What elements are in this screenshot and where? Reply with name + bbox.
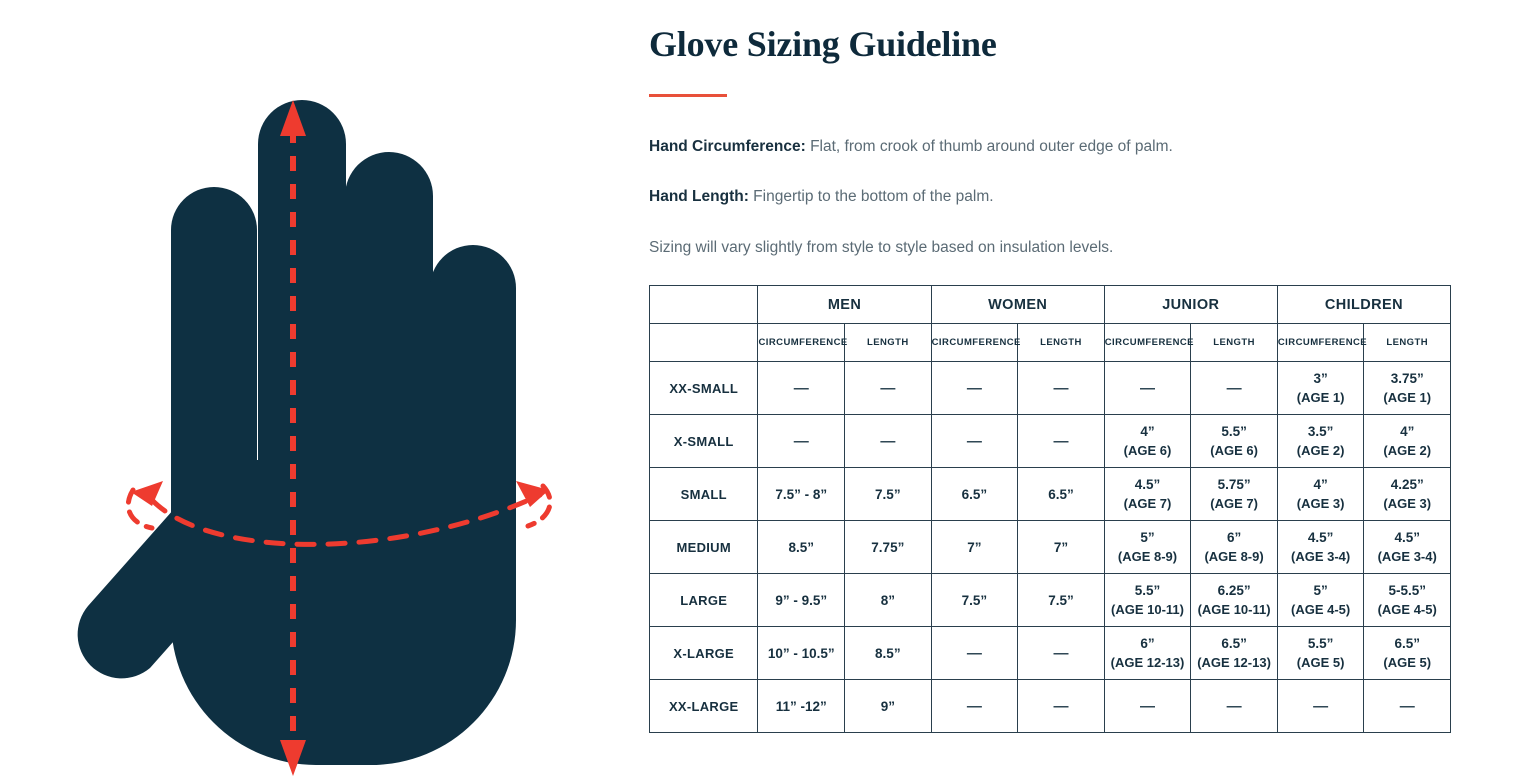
table-cell: 6”(AGE 12-13) — [1104, 627, 1191, 680]
table-cell: 7” — [931, 521, 1018, 574]
table-cell: 6.5” — [1018, 468, 1105, 521]
cell-age: (AGE 3-4) — [1364, 547, 1450, 566]
page-title: Glove Sizing Guideline — [649, 22, 997, 66]
cell-value: — — [1400, 698, 1415, 715]
cell-value: — — [1053, 433, 1068, 450]
row-label-x-large: X-LARGE — [650, 627, 758, 680]
group-header-women: WOMEN — [931, 286, 1104, 324]
group-header-children: CHILDREN — [1277, 286, 1450, 324]
table-cell: 4.5”(AGE 7) — [1104, 468, 1191, 521]
cell-value: 10” - 10.5” — [768, 646, 835, 661]
table-cell: 4”(AGE 6) — [1104, 415, 1191, 468]
cell-value: 7.5” — [1048, 593, 1074, 608]
sub-header-row: CIRCUMFERENCE LENGTH CIRCUMFERENCE LENGT… — [650, 324, 1451, 362]
cell-value: — — [880, 433, 895, 450]
cell-value: 5” — [1314, 583, 1328, 598]
cell-value: 5.5” — [1308, 636, 1334, 651]
cell-age: (AGE 4-5) — [1364, 600, 1450, 619]
table-cell: — — [931, 627, 1018, 680]
table-cell: 7.5” — [845, 468, 932, 521]
cell-age: (AGE 2) — [1278, 441, 1364, 460]
cell-age: (AGE 3-4) — [1278, 547, 1364, 566]
table-cell: 10” - 10.5” — [758, 627, 845, 680]
hand-length-label: Hand Length: — [649, 188, 749, 205]
subheader-men-circumference: CIRCUMFERENCE — [758, 324, 845, 362]
table-cell: 3.75”(AGE 1) — [1364, 362, 1451, 415]
table-cell: — — [1277, 680, 1364, 733]
group-header-men: MEN — [758, 286, 931, 324]
table-cell: — — [1191, 680, 1278, 733]
table-cell: 8.5” — [758, 521, 845, 574]
corner-sub-cell — [650, 324, 758, 362]
table-cell: 9” — [845, 680, 932, 733]
cell-value: 4.25” — [1391, 477, 1424, 492]
table-cell: 5.5”(AGE 5) — [1277, 627, 1364, 680]
table-cell: 6.5”(AGE 5) — [1364, 627, 1451, 680]
subheader-junior-length: LENGTH — [1191, 324, 1278, 362]
table-cell: 11” -12” — [758, 680, 845, 733]
table-cell: — — [931, 680, 1018, 733]
cell-value: 4.5” — [1135, 477, 1161, 492]
cell-value: 5.5” — [1221, 424, 1247, 439]
table-cell: 4.5”(AGE 3-4) — [1364, 521, 1451, 574]
cell-value: 7” — [1054, 540, 1068, 555]
sizing-content-panel: Glove Sizing Guideline Hand Circumferenc… — [620, 0, 1524, 776]
cell-value: 8.5” — [788, 540, 814, 555]
cell-value: 4.5” — [1308, 530, 1334, 545]
table-cell: — — [758, 415, 845, 468]
table-cell: 6”(AGE 8-9) — [1191, 521, 1278, 574]
title-accent-rule — [649, 94, 727, 97]
table-cell: 3.5”(AGE 2) — [1277, 415, 1364, 468]
table-head: MEN WOMEN JUNIOR CHILDREN CIRCUMFERENCE … — [650, 286, 1451, 362]
hand-circumference-label: Hand Circumference: — [649, 138, 806, 155]
row-label-xx-small: XX-SMALL — [650, 362, 758, 415]
sizing-note: Sizing will vary slightly from style to … — [649, 237, 1113, 259]
row-label-medium: MEDIUM — [650, 521, 758, 574]
cell-value: 7” — [967, 540, 981, 555]
cell-age: (AGE 5) — [1364, 653, 1450, 672]
table-cell: 5”(AGE 8-9) — [1104, 521, 1191, 574]
cell-value: — — [967, 380, 982, 397]
table-cell: — — [1191, 362, 1278, 415]
table-cell: — — [1364, 680, 1451, 733]
table-cell: 4.25”(AGE 3) — [1364, 468, 1451, 521]
hand-circumference-description: Hand Circumference: Flat, from crook of … — [649, 136, 1173, 158]
hand-illustration-panel — [0, 0, 620, 776]
cell-value: 5.5” — [1135, 583, 1161, 598]
table-cell: — — [758, 362, 845, 415]
cell-value: 11” -12” — [776, 699, 827, 714]
subheader-women-circumference: CIRCUMFERENCE — [931, 324, 1018, 362]
table-cell: — — [845, 415, 932, 468]
cell-value: 4” — [1314, 477, 1328, 492]
cell-value: — — [1227, 698, 1242, 715]
table-row: LARGE9” - 9.5”8”7.5”7.5”5.5”(AGE 10-11)6… — [650, 574, 1451, 627]
cell-value: 5-5.5” — [1388, 583, 1426, 598]
cell-value: 6.5” — [962, 487, 988, 502]
cell-value: 8” — [881, 593, 895, 608]
table-cell: 9” - 9.5” — [758, 574, 845, 627]
cell-value: 7.5” — [962, 593, 988, 608]
cell-age: (AGE 1) — [1364, 388, 1450, 407]
cell-age: (AGE 10-11) — [1105, 600, 1191, 619]
cell-value: 5” — [1140, 530, 1154, 545]
cell-value: 4” — [1400, 424, 1414, 439]
cell-value: 6.5” — [1048, 487, 1074, 502]
cell-value: — — [1053, 380, 1068, 397]
hand-length-description: Hand Length: Fingertip to the bottom of … — [649, 186, 994, 208]
cell-age: (AGE 6) — [1191, 441, 1277, 460]
table-cell: — — [845, 362, 932, 415]
table-cell: — — [1018, 415, 1105, 468]
table-cell: — — [1104, 362, 1191, 415]
cell-age: (AGE 3) — [1278, 494, 1364, 513]
cell-value: 6.5” — [1394, 636, 1420, 651]
table-cell: 6.5”(AGE 12-13) — [1191, 627, 1278, 680]
row-label-small: SMALL — [650, 468, 758, 521]
cell-value: — — [967, 645, 982, 662]
cell-age: (AGE 2) — [1364, 441, 1450, 460]
table-cell: — — [1018, 680, 1105, 733]
subheader-children-length: LENGTH — [1364, 324, 1451, 362]
group-header-junior: JUNIOR — [1104, 286, 1277, 324]
table-cell: 5.75”(AGE 7) — [1191, 468, 1278, 521]
size-table-container: MEN WOMEN JUNIOR CHILDREN CIRCUMFERENCE … — [649, 285, 1451, 733]
glove-size-table: MEN WOMEN JUNIOR CHILDREN CIRCUMFERENCE … — [649, 285, 1451, 733]
cell-age: (AGE 12-13) — [1105, 653, 1191, 672]
table-cell: 5.5”(AGE 10-11) — [1104, 574, 1191, 627]
table-row: X-SMALL————4”(AGE 6)5.5”(AGE 6)3.5”(AGE … — [650, 415, 1451, 468]
cell-value: 9” — [881, 699, 895, 714]
table-cell: 6.25”(AGE 10-11) — [1191, 574, 1278, 627]
table-cell: 3”(AGE 1) — [1277, 362, 1364, 415]
cell-age: (AGE 8-9) — [1191, 547, 1277, 566]
table-cell: 4.5”(AGE 3-4) — [1277, 521, 1364, 574]
cell-age: (AGE 6) — [1105, 441, 1191, 460]
cell-value: — — [1140, 698, 1155, 715]
cell-age: (AGE 7) — [1191, 494, 1277, 513]
cell-age: (AGE 8-9) — [1105, 547, 1191, 566]
cell-value: 3.75” — [1391, 371, 1424, 386]
cell-value: — — [1053, 645, 1068, 662]
cell-value: 4” — [1140, 424, 1154, 439]
table-cell: 8” — [845, 574, 932, 627]
cell-value: 7.75” — [871, 540, 904, 555]
hand-length-text: Fingertip to the bottom of the palm. — [749, 188, 994, 205]
cell-value: 3” — [1314, 371, 1328, 386]
table-cell: 8.5” — [845, 627, 932, 680]
corner-blank-cell — [650, 286, 758, 324]
cell-value: 6” — [1140, 636, 1154, 651]
hand-circumference-text: Flat, from crook of thumb around outer e… — [806, 138, 1173, 155]
cell-value: 3.5” — [1308, 424, 1334, 439]
table-body: XX-SMALL——————3”(AGE 1)3.75”(AGE 1)X-SMA… — [650, 362, 1451, 733]
cell-value: — — [1053, 698, 1068, 715]
row-label-x-small: X-SMALL — [650, 415, 758, 468]
cell-value: — — [794, 380, 809, 397]
cell-age: (AGE 7) — [1105, 494, 1191, 513]
cell-value: 9” - 9.5” — [775, 593, 827, 608]
subheader-children-circumference: CIRCUMFERENCE — [1277, 324, 1364, 362]
cell-value: 6” — [1227, 530, 1241, 545]
table-cell: 7.5” - 8” — [758, 468, 845, 521]
group-header-row: MEN WOMEN JUNIOR CHILDREN — [650, 286, 1451, 324]
cell-value: 7.5” — [875, 487, 901, 502]
table-cell: — — [1018, 362, 1105, 415]
cell-age: (AGE 1) — [1278, 388, 1364, 407]
glove-sizing-page: Glove Sizing Guideline Hand Circumferenc… — [0, 0, 1524, 776]
row-label-large: LARGE — [650, 574, 758, 627]
cell-value: — — [967, 698, 982, 715]
table-cell: 5-5.5”(AGE 4-5) — [1364, 574, 1451, 627]
subheader-women-length: LENGTH — [1018, 324, 1105, 362]
cell-value: — — [880, 380, 895, 397]
cell-age: (AGE 12-13) — [1191, 653, 1277, 672]
cell-value: 6.5” — [1221, 636, 1247, 651]
cell-value: 6.25” — [1218, 583, 1251, 598]
cell-value: 5.75” — [1218, 477, 1251, 492]
cell-value: 4.5” — [1394, 530, 1420, 545]
cell-value: — — [1140, 380, 1155, 397]
table-cell: — — [931, 362, 1018, 415]
table-cell: 7” — [1018, 521, 1105, 574]
hand-diagram — [0, 0, 620, 776]
cell-age: (AGE 5) — [1278, 653, 1364, 672]
table-cell: — — [1104, 680, 1191, 733]
table-cell: — — [1018, 627, 1105, 680]
cell-value: 7.5” - 8” — [775, 487, 827, 502]
cell-age: (AGE 4-5) — [1278, 600, 1364, 619]
cell-age: (AGE 10-11) — [1191, 600, 1277, 619]
table-cell: 5”(AGE 4-5) — [1277, 574, 1364, 627]
table-cell: 6.5” — [931, 468, 1018, 521]
table-cell: 5.5”(AGE 6) — [1191, 415, 1278, 468]
table-row: XX-SMALL——————3”(AGE 1)3.75”(AGE 1) — [650, 362, 1451, 415]
table-cell: 7.5” — [1018, 574, 1105, 627]
hand-silhouette-icon — [78, 100, 516, 765]
table-cell: 4”(AGE 3) — [1277, 468, 1364, 521]
subheader-men-length: LENGTH — [845, 324, 932, 362]
subheader-junior-circumference: CIRCUMFERENCE — [1104, 324, 1191, 362]
cell-value: — — [1227, 380, 1242, 397]
cell-age: (AGE 3) — [1364, 494, 1450, 513]
table-row: MEDIUM8.5”7.75”7”7”5”(AGE 8-9)6”(AGE 8-9… — [650, 521, 1451, 574]
table-row: XX-LARGE11” -12”9”—————— — [650, 680, 1451, 733]
table-row: X-LARGE10” - 10.5”8.5”——6”(AGE 12-13)6.5… — [650, 627, 1451, 680]
table-row: SMALL7.5” - 8”7.5”6.5”6.5”4.5”(AGE 7)5.7… — [650, 468, 1451, 521]
table-cell: — — [931, 415, 1018, 468]
cell-value: 8.5” — [875, 646, 901, 661]
cell-value: — — [794, 433, 809, 450]
cell-value: — — [967, 433, 982, 450]
table-cell: 7.5” — [931, 574, 1018, 627]
row-label-xx-large: XX-LARGE — [650, 680, 758, 733]
cell-value: — — [1313, 698, 1328, 715]
table-cell: 4”(AGE 2) — [1364, 415, 1451, 468]
table-cell: 7.75” — [845, 521, 932, 574]
